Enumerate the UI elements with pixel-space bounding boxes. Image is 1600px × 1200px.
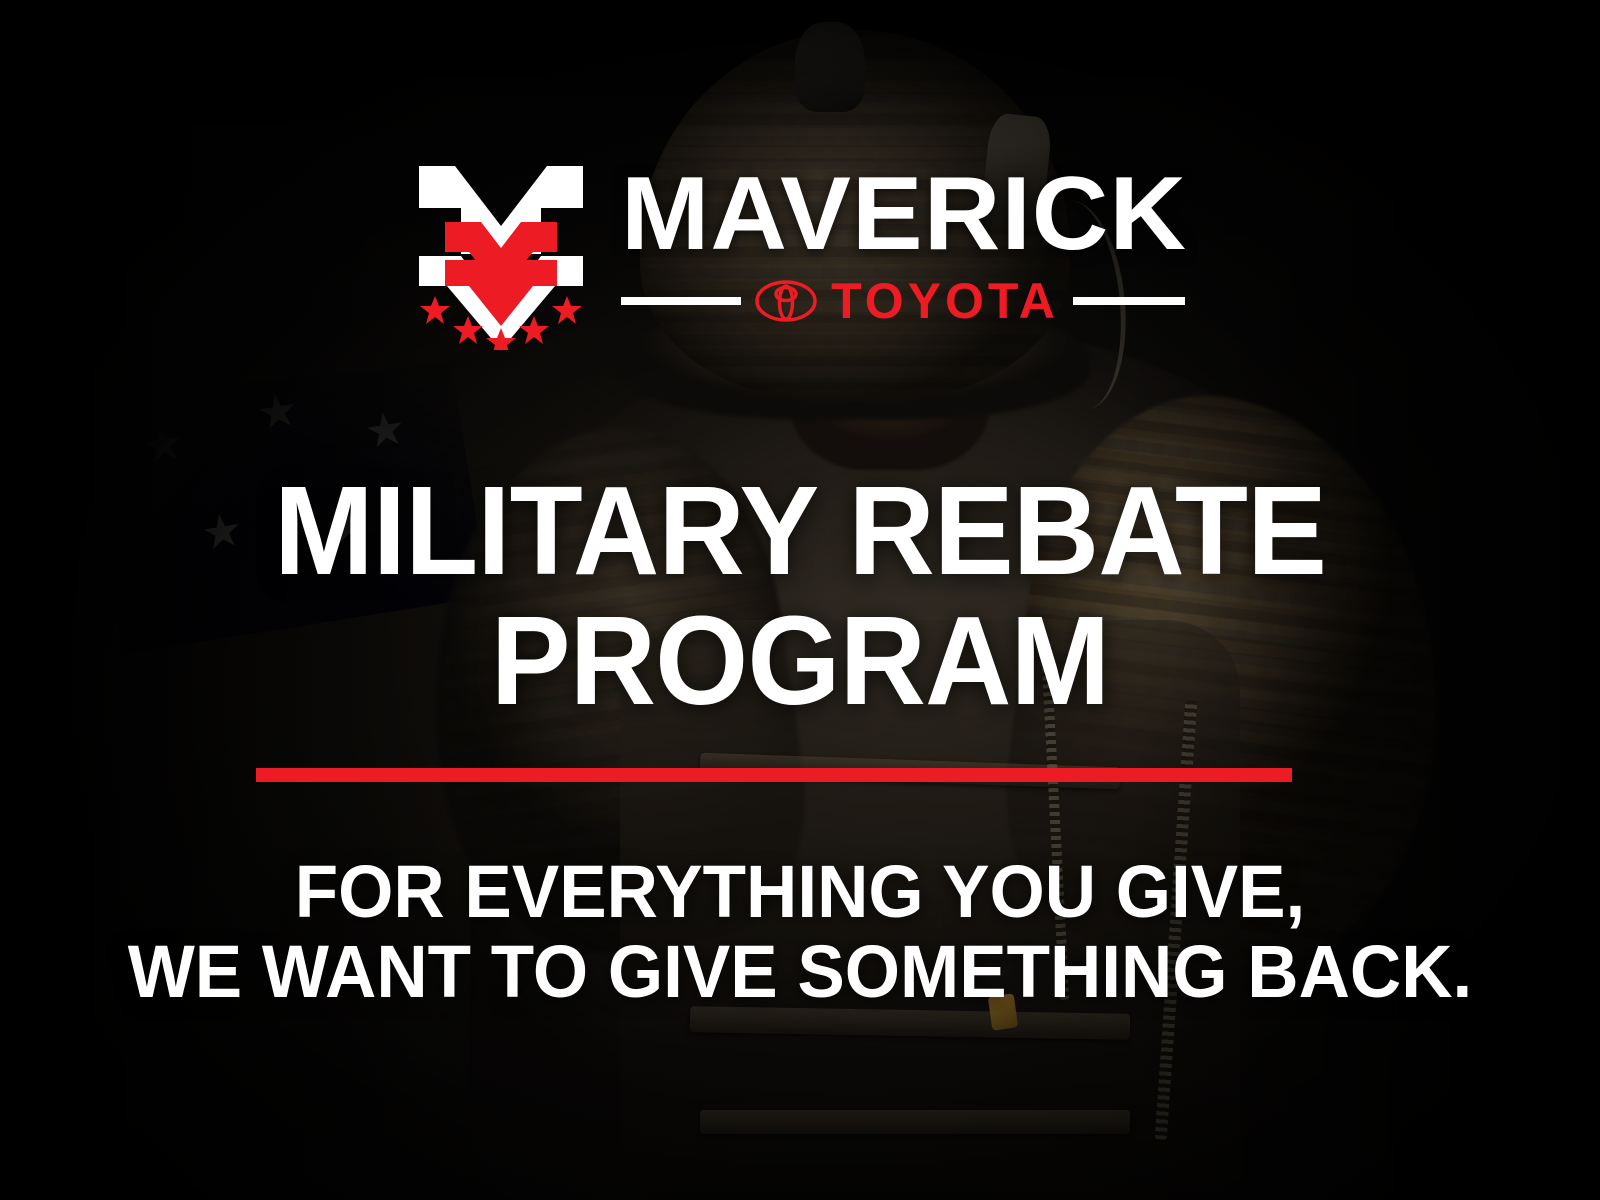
- tagline-line-2: WE WANT TO GIVE SOMETHING BACK.: [32, 932, 1568, 1012]
- toyota-wordmark: TOYOTA: [831, 276, 1059, 326]
- brand-lockup: MAVERICK TOYOTA: [0, 160, 1600, 350]
- rule-right-icon: [1073, 297, 1185, 305]
- headline-line-1: MILITARY REBATE: [40, 466, 1560, 596]
- toyota-emblem-icon: [755, 280, 817, 322]
- toyota-sublockup: TOYOTA: [621, 276, 1185, 326]
- rule-left-icon: [621, 297, 741, 305]
- banner-content: MAVERICK TOYOTA: [0, 0, 1600, 1200]
- red-divider: [256, 768, 1292, 782]
- tagline-line-1: FOR EVERYTHING YOU GIVE,: [32, 852, 1568, 932]
- headline-line-2: PROGRAM: [40, 596, 1560, 726]
- maverick-chevron-badge-icon: [415, 160, 587, 350]
- brand-wordmark: MAVERICK: [621, 164, 1196, 266]
- page-title: MILITARY REBATE PROGRAM: [40, 466, 1560, 726]
- military-rebate-banner: ★ ★ ★ ★ ★: [0, 0, 1600, 1200]
- tagline: FOR EVERYTHING YOU GIVE, WE WANT TO GIVE…: [32, 852, 1568, 1012]
- wordmark-block: MAVERICK TOYOTA: [621, 160, 1185, 326]
